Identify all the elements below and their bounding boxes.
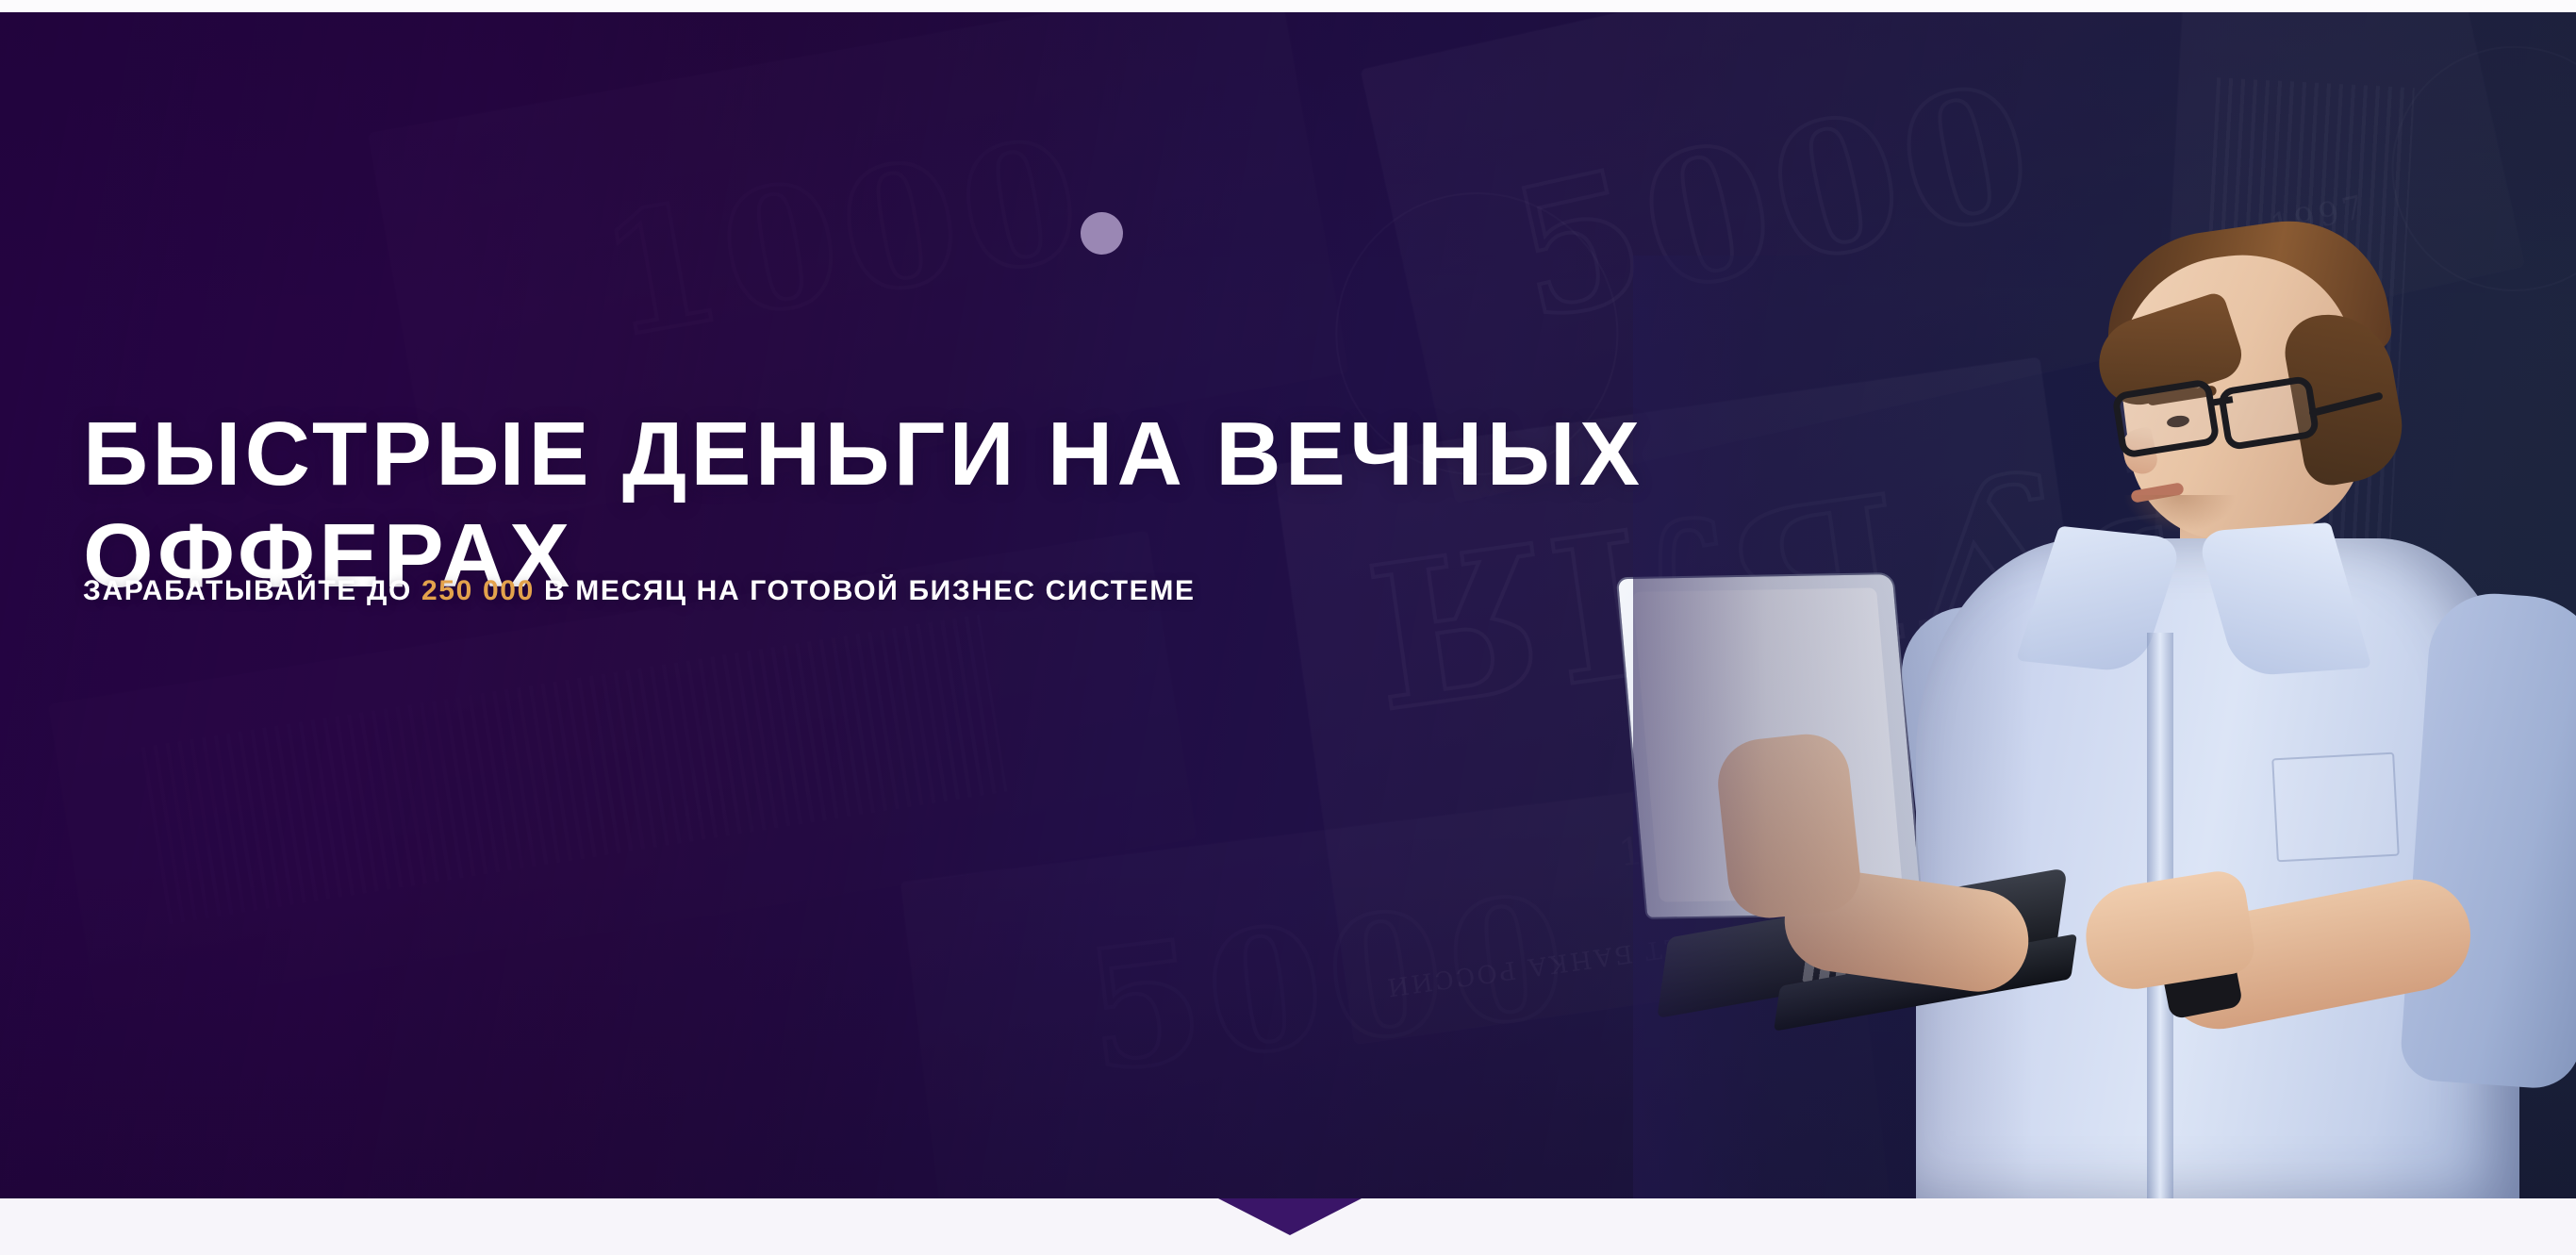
hero-subtitle-suffix: в месяц на готовой бизнес системе <box>544 575 1196 606</box>
browser-top-strip <box>0 0 2576 12</box>
decorative-dot <box>1081 212 1123 255</box>
hero-subtitle: Зарабатывайте до 250 000 в месяц на гото… <box>83 575 1196 607</box>
hero-subtitle-prefix: Зарабатывайте до <box>83 575 412 606</box>
man-with-laptop-photo <box>1633 256 2576 1198</box>
page-root: 5000 1997 РУБЛЯ БИЛЕТ БАНКА РОССИИ 1000 … <box>0 0 2576 1255</box>
hero-subtitle-amount: 250 000 <box>421 575 535 606</box>
left-hand <box>1713 730 1863 922</box>
hero-section: 5000 1997 РУБЛЯ БИЛЕТ БАНКА РОССИИ 1000 … <box>0 12 2576 1198</box>
section-divider-notch <box>1218 1198 1362 1235</box>
